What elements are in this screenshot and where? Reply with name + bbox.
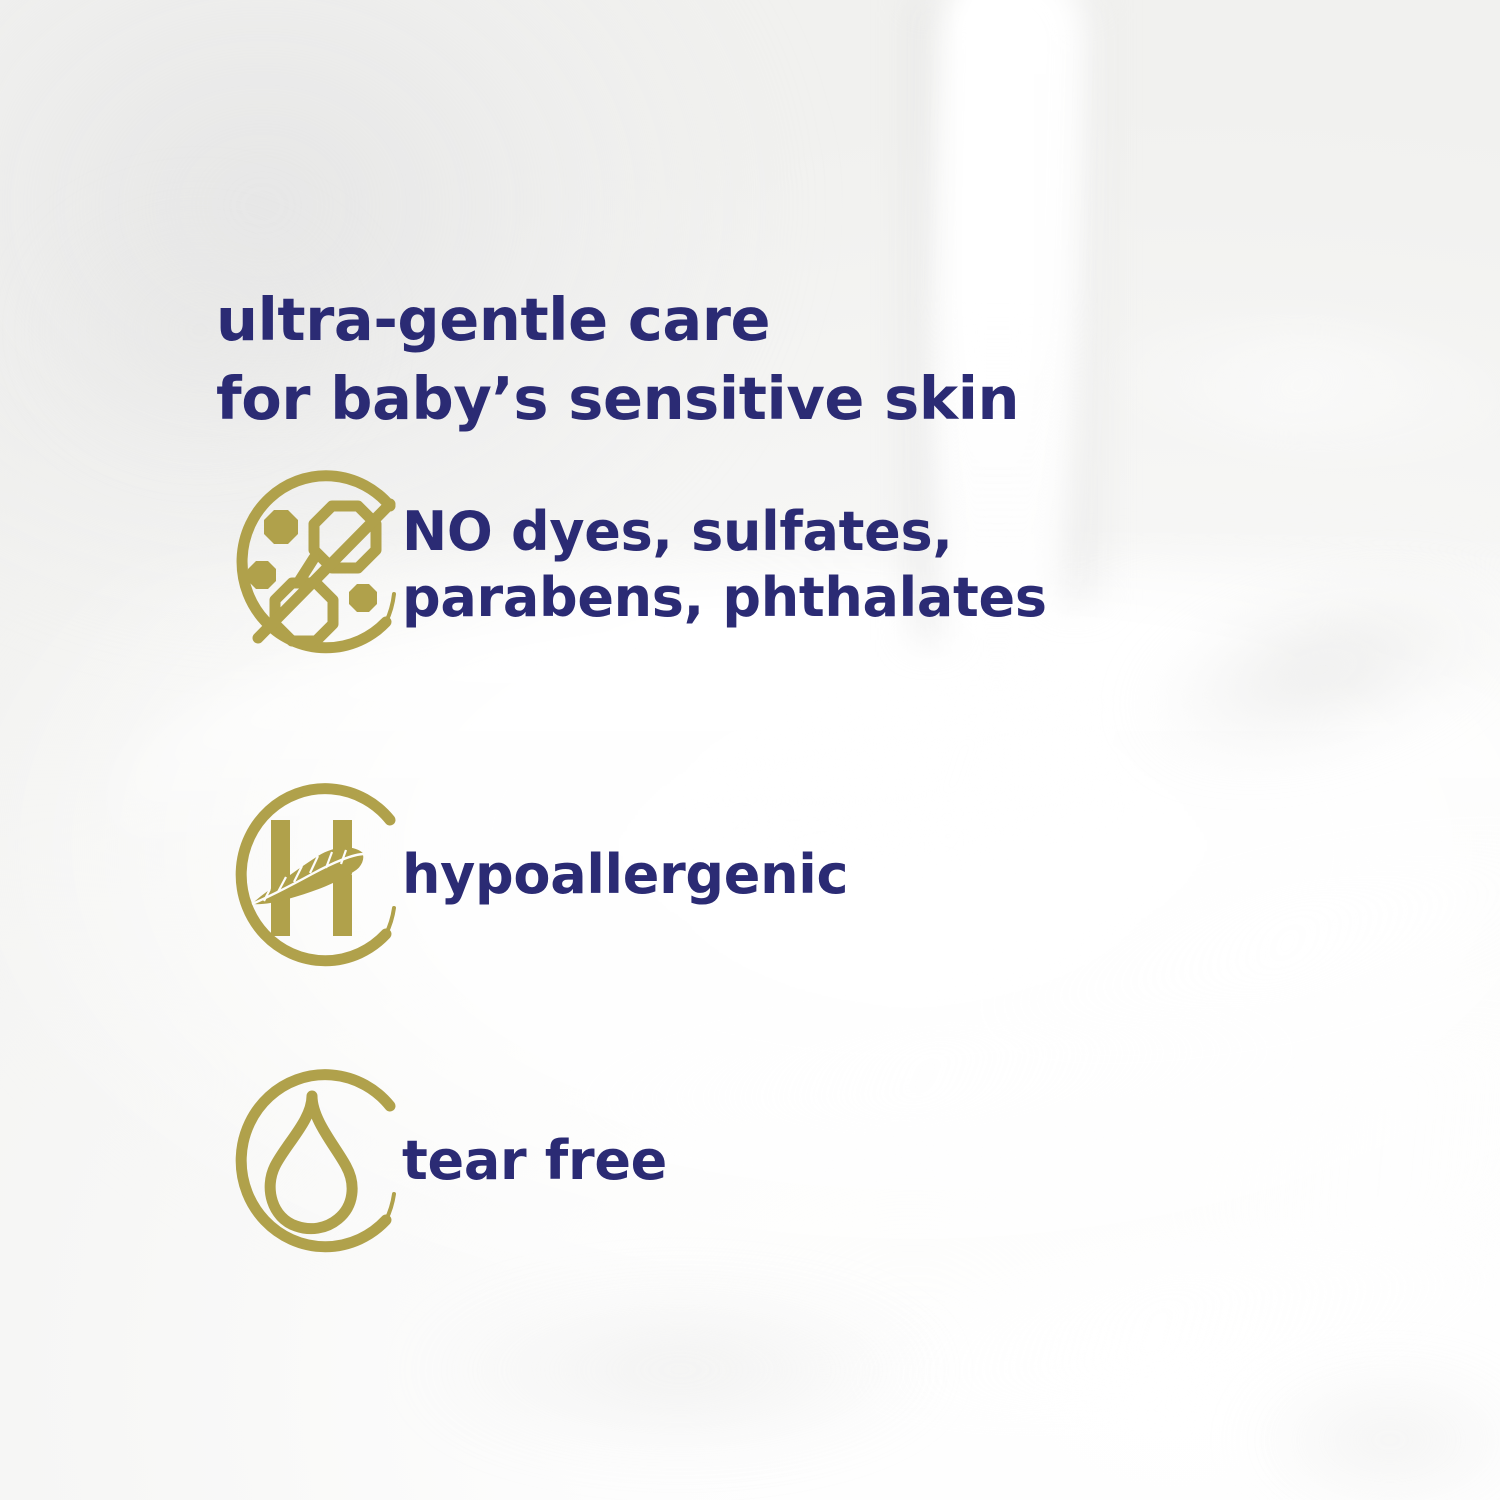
feature-label-no-chemicals: NO dyes, sulfates, parabens, phthalates bbox=[402, 499, 1047, 631]
feature-label-hypoallergenic: hypoallergenic bbox=[402, 842, 848, 908]
tear-free-droplet-icon bbox=[214, 1058, 410, 1264]
claims-content: ultra-gentle care for baby’s sensitive s… bbox=[0, 0, 1500, 1500]
feature-tear-free: tear free bbox=[214, 1058, 667, 1264]
product-claims-panel: ultra-gentle care for baby’s sensitive s… bbox=[0, 0, 1500, 1500]
feature-label-tear-free: tear free bbox=[402, 1128, 667, 1194]
hypoallergenic-feather-icon bbox=[214, 772, 410, 978]
feature-hypoallergenic: hypoallergenic bbox=[214, 772, 848, 978]
no-chemicals-icon bbox=[214, 462, 410, 668]
feature-no-chemicals: NO dyes, sulfates, parabens, phthalates bbox=[214, 462, 1047, 668]
page-title: ultra-gentle care for baby’s sensitive s… bbox=[216, 280, 1019, 438]
